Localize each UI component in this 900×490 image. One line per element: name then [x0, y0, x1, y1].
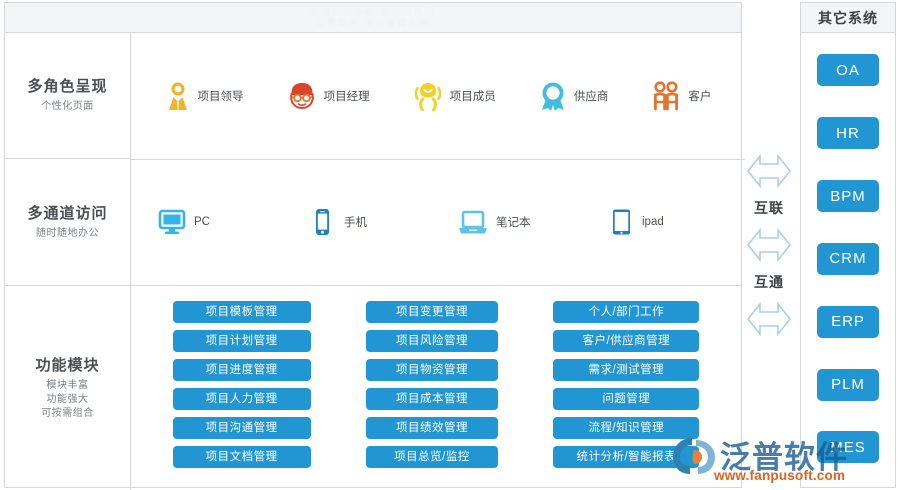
modules-block: 功能模块 模块丰富 功能强大 可按需组合 项目模板管理 项目计划管理 项目进度管… — [5, 286, 741, 490]
connector-word-1: 互联 — [754, 195, 784, 221]
main-panel: 项目管理系统 功能架构图 泛普软件 项目管理系统 多角色呈现 个性化页面 多通道… — [4, 2, 742, 488]
channels-title: 多通道访问 — [27, 204, 107, 224]
role-label-manager: 项目经理 — [324, 88, 370, 104]
other-systems-list: OA HR BPM CRM ERP PLM MES — [801, 33, 895, 487]
person-group-icon — [413, 81, 443, 111]
panel-header: 项目管理系统 功能架构图 泛普软件 项目管理系统 — [5, 3, 741, 33]
roles-subtitle: 个性化页面 — [41, 100, 94, 114]
modules-label: 功能模块 模块丰富 功能强大 可按需组合 — [5, 286, 131, 490]
module-chip[interactable]: 项目变更管理 — [366, 301, 498, 323]
modules-grid: 项目模板管理 项目计划管理 项目进度管理 项目人力管理 项目沟通管理 项目文档管… — [131, 286, 741, 490]
role-item-member[interactable]: 项目成员 — [413, 81, 496, 111]
module-chip[interactable]: 项目绩效管理 — [366, 417, 498, 439]
channel-label-phone: 手机 — [344, 214, 367, 230]
system-chip-erp[interactable]: ERP — [817, 306, 879, 338]
module-chip[interactable]: 项目模板管理 — [173, 301, 311, 323]
module-chip[interactable]: 客户/供应商管理 — [553, 330, 699, 352]
modules-column-2: 项目变更管理 项目风险管理 项目物资管理 项目成本管理 项目绩效管理 项目总览/… — [366, 301, 498, 468]
channel-label-pc: PC — [194, 216, 210, 228]
role-label-member: 项目成员 — [450, 88, 496, 104]
module-chip[interactable]: 项目风险管理 — [366, 330, 498, 352]
channel-label-ipad: ipad — [642, 216, 664, 228]
module-chip[interactable]: 项目沟通管理 — [173, 417, 311, 439]
connector-word-2: 互通 — [754, 269, 784, 295]
ghost-line-1: 项目管理系统 功能架构图 — [310, 7, 436, 18]
modules-subtitle-3: 可按需组合 — [41, 407, 94, 421]
two-people-icon — [651, 81, 681, 111]
modules-column-3: 个人/部门工作 客户/供应商管理 需求/测试管理 问题管理 流程/知识管理 统计… — [553, 301, 699, 468]
module-chip[interactable]: 项目文档管理 — [173, 446, 311, 468]
module-chip[interactable]: 项目进度管理 — [173, 359, 311, 381]
double-headed-arrow-icon — [746, 223, 792, 267]
module-chip[interactable]: 项目成本管理 — [366, 388, 498, 410]
desktop-monitor-icon — [157, 207, 187, 237]
roles-row: 项目领导 项目经理 — [131, 33, 745, 160]
channels-subtitle: 随时随地办公 — [36, 227, 99, 241]
role-label-customer: 客户 — [688, 88, 711, 104]
channel-item-phone[interactable]: 手机 — [293, 207, 443, 237]
module-chip[interactable]: 需求/测试管理 — [553, 359, 699, 381]
role-item-supplier[interactable]: 供应商 — [539, 81, 609, 111]
modules-title: 功能模块 — [35, 356, 99, 376]
modules-subtitle-2: 功能强大 — [41, 393, 94, 407]
module-chip[interactable]: 个人/部门工作 — [553, 301, 699, 323]
module-chip[interactable]: 项目物资管理 — [366, 359, 498, 381]
tablet-icon — [607, 207, 635, 237]
panel-header-ghost-text: 项目管理系统 功能架构图 泛普软件 项目管理系统 — [310, 7, 436, 29]
system-chip-crm[interactable]: CRM — [817, 243, 879, 275]
ghost-line-2: 泛普软件 项目管理系统 — [310, 18, 436, 29]
role-item-manager[interactable]: 项目经理 — [287, 81, 370, 111]
architecture-diagram: 项目管理系统 功能架构图 泛普软件 项目管理系统 多角色呈现 个性化页面 多通道… — [0, 0, 900, 490]
laptop-icon — [457, 207, 489, 237]
system-chip-mes[interactable]: MES — [817, 431, 879, 463]
modules-subtitle-1: 模块丰富 — [41, 379, 94, 393]
role-item-customer[interactable]: 客户 — [651, 81, 711, 111]
other-systems-title: 其它系统 — [801, 3, 895, 33]
channel-item-laptop[interactable]: 笔记本 — [443, 207, 593, 237]
system-chip-bpm[interactable]: BPM — [817, 180, 879, 212]
module-chip[interactable]: 项目总览/监控 — [366, 446, 498, 468]
channel-item-ipad[interactable]: ipad — [593, 207, 733, 237]
connector-column: 互联 互通 — [745, 2, 793, 488]
role-label-supplier: 供应商 — [574, 88, 609, 104]
system-chip-plm[interactable]: PLM — [817, 369, 879, 401]
channel-item-pc[interactable]: PC — [143, 207, 293, 237]
role-label-leader: 项目领导 — [198, 88, 244, 104]
smartphone-icon — [307, 207, 337, 237]
person-glasses-icon — [287, 81, 317, 111]
roles-title: 多角色呈现 — [27, 77, 107, 97]
double-headed-arrow-icon — [746, 297, 792, 341]
roles-channels-block: 多角色呈现 个性化页面 多通道访问 随时随地办公 — [5, 33, 741, 286]
system-chip-hr[interactable]: HR — [817, 117, 879, 149]
channels-row: PC 手机 — [131, 160, 745, 286]
module-chip[interactable]: 项目计划管理 — [173, 330, 311, 352]
module-chip[interactable]: 统计分析/智能报表 — [553, 446, 699, 468]
ribbon-badge-icon — [539, 81, 567, 111]
role-item-leader[interactable]: 项目领导 — [165, 81, 244, 111]
other-systems-panel: 其它系统 OA HR BPM CRM ERP PLM MES — [800, 2, 896, 488]
modules-column-1: 项目模板管理 项目计划管理 项目进度管理 项目人力管理 项目沟通管理 项目文档管… — [173, 301, 311, 468]
channels-label: 多通道访问 随时随地办公 — [5, 159, 130, 285]
roles-label: 多角色呈现 个性化页面 — [5, 33, 130, 159]
channel-label-laptop: 笔记本 — [496, 214, 531, 230]
module-chip[interactable]: 问题管理 — [553, 388, 699, 410]
person-tie-icon — [165, 81, 191, 111]
double-headed-arrow-icon — [746, 149, 792, 193]
system-chip-oa[interactable]: OA — [817, 54, 879, 86]
module-chip[interactable]: 项目人力管理 — [173, 388, 311, 410]
module-chip[interactable]: 流程/知识管理 — [553, 417, 699, 439]
